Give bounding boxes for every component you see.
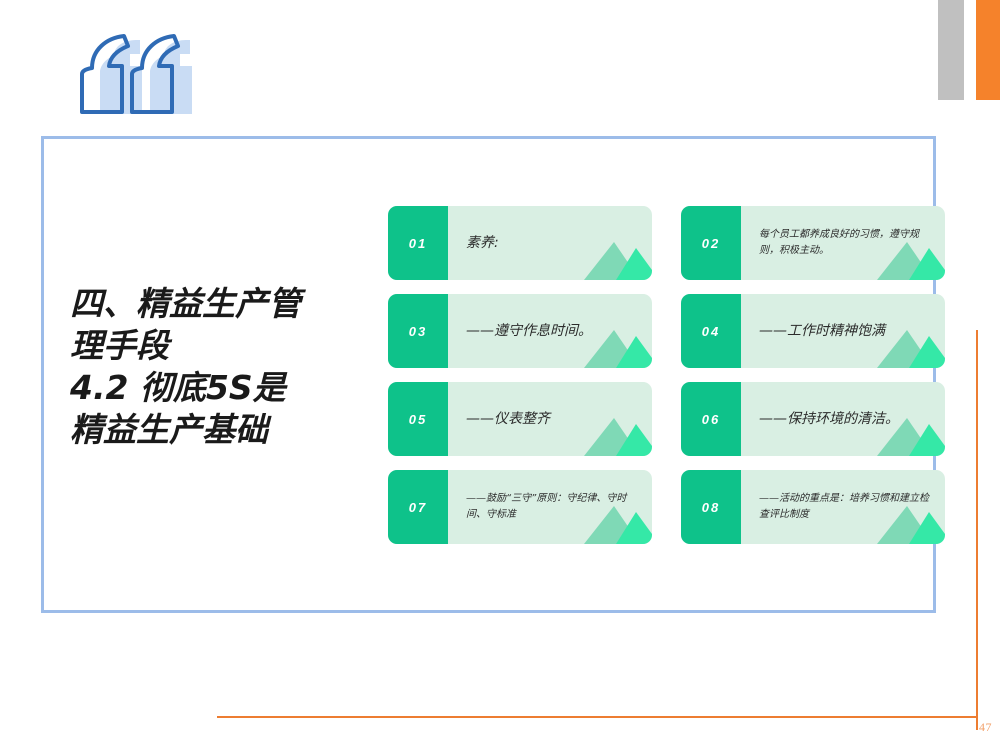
card-grid: 01 素养: 02 每个员工都养成良好的习惯，遵守规则，积极主动。 03 [388, 206, 948, 544]
slide-canvas: 四、精益生产管 理手段 4.2 彻底5S是 精益生产基础 01 素养: 02 [0, 0, 1000, 750]
card-item[interactable]: 08 ——活动的重点是：培养习惯和建立检查评比制度 [681, 470, 945, 544]
card-body: ——鼓励“三守”原则：守纪律、守时间、守标准 [448, 470, 652, 544]
card-body: ——工作时精神饱满 [741, 294, 945, 368]
page-number: 47 [979, 720, 992, 735]
card-item[interactable]: 05 ——仪表整齐 [388, 382, 652, 456]
card-number: 07 [388, 470, 448, 544]
card-item[interactable]: 02 每个员工都养成良好的习惯，遵守规则，积极主动。 [681, 206, 945, 280]
card-text: ——鼓励“三守”原则：守纪律、守时间、守标准 [466, 491, 636, 523]
card-body: 素养: [448, 206, 652, 280]
card-item[interactable]: 07 ——鼓励“三守”原则：守纪律、守时间、守标准 [388, 470, 652, 544]
card-text: ——仪表整齐 [466, 409, 550, 429]
card-body: ——遵守作息时间。 [448, 294, 652, 368]
card-number: 03 [388, 294, 448, 368]
card-text: ——遵守作息时间。 [466, 321, 592, 341]
top-orange-bar [976, 0, 1000, 100]
card-item[interactable]: 06 ——保持环境的清洁。 [681, 382, 945, 456]
card-item[interactable]: 03 ——遵守作息时间。 [388, 294, 652, 368]
quote-mark-icon [62, 22, 197, 127]
card-number: 01 [388, 206, 448, 280]
card-number: 08 [681, 470, 741, 544]
title-line-4: 精益生产基础 [70, 409, 380, 451]
card-body: ——活动的重点是：培养习惯和建立检查评比制度 [741, 470, 945, 544]
card-number: 04 [681, 294, 741, 368]
title-line-1: 四、精益生产管 [70, 283, 380, 325]
card-body: ——保持环境的清洁。 [741, 382, 945, 456]
card-text: ——工作时精神饱满 [759, 321, 885, 341]
horizontal-rule [217, 716, 978, 718]
title-line-3: 4.2 彻底5S是 [70, 367, 380, 409]
card-body: ——仪表整齐 [448, 382, 652, 456]
mountain-deco-icon [562, 408, 652, 456]
card-number: 05 [388, 382, 448, 456]
card-item[interactable]: 01 素养: [388, 206, 652, 280]
card-text: ——活动的重点是：培养习惯和建立检查评比制度 [759, 491, 929, 523]
card-item[interactable]: 04 ——工作时精神饱满 [681, 294, 945, 368]
top-gray-bar [938, 0, 964, 100]
title-line-2: 理手段 [70, 325, 380, 367]
mountain-deco-icon [562, 232, 652, 280]
card-number: 02 [681, 206, 741, 280]
card-body: 每个员工都养成良好的习惯，遵守规则，积极主动。 [741, 206, 945, 280]
card-text: 素养: [466, 233, 499, 253]
page-title: 四、精益生产管 理手段 4.2 彻底5S是 精益生产基础 [70, 283, 380, 451]
vertical-rule [976, 330, 978, 730]
card-text: 每个员工都养成良好的习惯，遵守规则，积极主动。 [759, 227, 929, 259]
card-number: 06 [681, 382, 741, 456]
card-text: ——保持环境的清洁。 [759, 409, 899, 429]
